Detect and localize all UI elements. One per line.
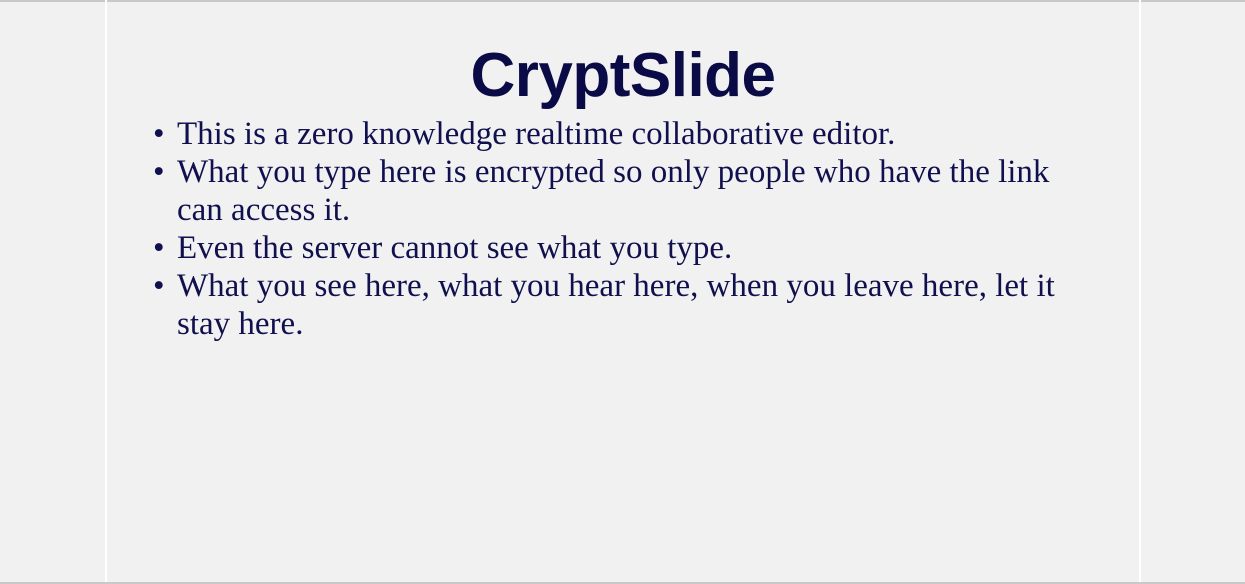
list-item[interactable]: What you type here is encrypted so only … — [153, 153, 1139, 229]
slide-canvas[interactable]: CryptSlide This is a zero knowledge real… — [107, 2, 1139, 582]
bullet-list[interactable]: This is a zero knowledge realtime collab… — [107, 115, 1139, 343]
slide-viewer: CryptSlide This is a zero knowledge real… — [0, 0, 1245, 584]
list-item[interactable]: This is a zero knowledge realtime collab… — [153, 115, 1139, 153]
left-gutter — [0, 2, 105, 582]
slide-body[interactable]: This is a zero knowledge realtime collab… — [107, 115, 1139, 343]
right-slide-divider — [1139, 0, 1141, 584]
list-item[interactable]: Even the server cannot see what you type… — [153, 229, 1139, 267]
slide-title[interactable]: CryptSlide — [107, 40, 1139, 112]
list-item[interactable]: What you see here, what you hear here, w… — [153, 267, 1139, 343]
right-gutter — [1141, 2, 1245, 582]
